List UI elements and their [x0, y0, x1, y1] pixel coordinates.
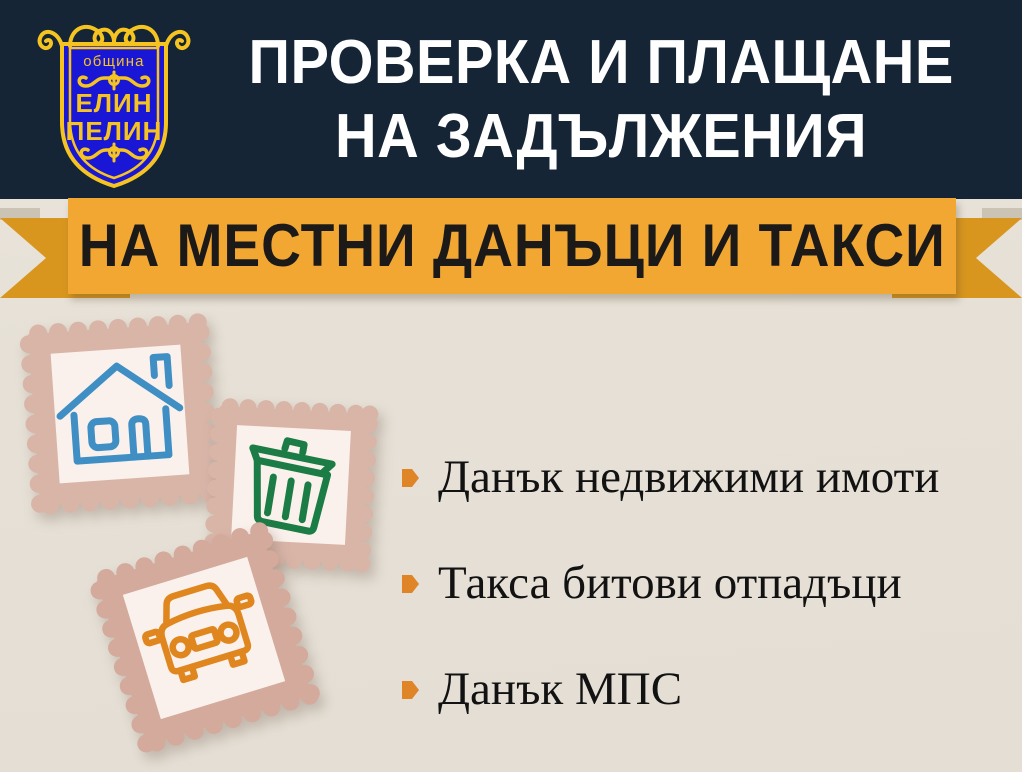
poster-canvas: община ЕЛИН ПЕЛИН ПРОВЕРКА И ПЛАЩАНЕ НА …	[0, 0, 1022, 772]
title-line-1: ПРОВЕРКА И ПЛАЩАНЕ	[248, 26, 953, 100]
list-item-label: Данък МПС	[438, 663, 682, 715]
arrow-bullet-icon	[402, 467, 419, 489]
list-item[interactable]: Данък МПС	[402, 636, 1012, 742]
ribbon-label: НА МЕСТНИ ДАНЪЦИ И ТАКСИ	[78, 216, 945, 276]
list-item[interactable]: Данък недвижими имоти	[402, 424, 1012, 530]
list-item[interactable]: Такса битови отпадъци	[402, 530, 1012, 636]
title-line-2: НА ЗАДЪЛЖЕНИЯ	[335, 100, 867, 174]
list-item-label: Такса битови отпадъци	[438, 557, 902, 609]
ribbon-panel: НА МЕСТНИ ДАНЪЦИ И ТАКСИ	[68, 198, 956, 294]
header-bar: община ЕЛИН ПЕЛИН ПРОВЕРКА И ПЛАЩАНЕ НА …	[0, 0, 1022, 199]
logo-text-top: община	[83, 53, 144, 70]
logo-text-line1: ЕЛИН	[75, 88, 152, 118]
arrow-bullet-icon	[402, 573, 419, 595]
stamp-property	[14, 308, 226, 520]
municipality-logo: община ЕЛИН ПЕЛИН	[34, 10, 194, 190]
stamp-collage	[0, 300, 420, 772]
tax-type-list: Данък недвижими имоти Такса битови отпад…	[402, 424, 1012, 742]
stamp-vehicle	[88, 522, 320, 754]
logo-text-line2: ПЕЛИН	[66, 116, 163, 146]
arrow-bullet-icon	[402, 679, 419, 701]
page-title: ПРОВЕРКА И ПЛАЩАНЕ НА ЗАДЪЛЖЕНИЯ	[196, 16, 1006, 184]
ribbon-banner: НА МЕСТНИ ДАНЪЦИ И ТАКСИ	[0, 196, 1022, 308]
list-item-label: Данък недвижими имоти	[438, 451, 939, 503]
